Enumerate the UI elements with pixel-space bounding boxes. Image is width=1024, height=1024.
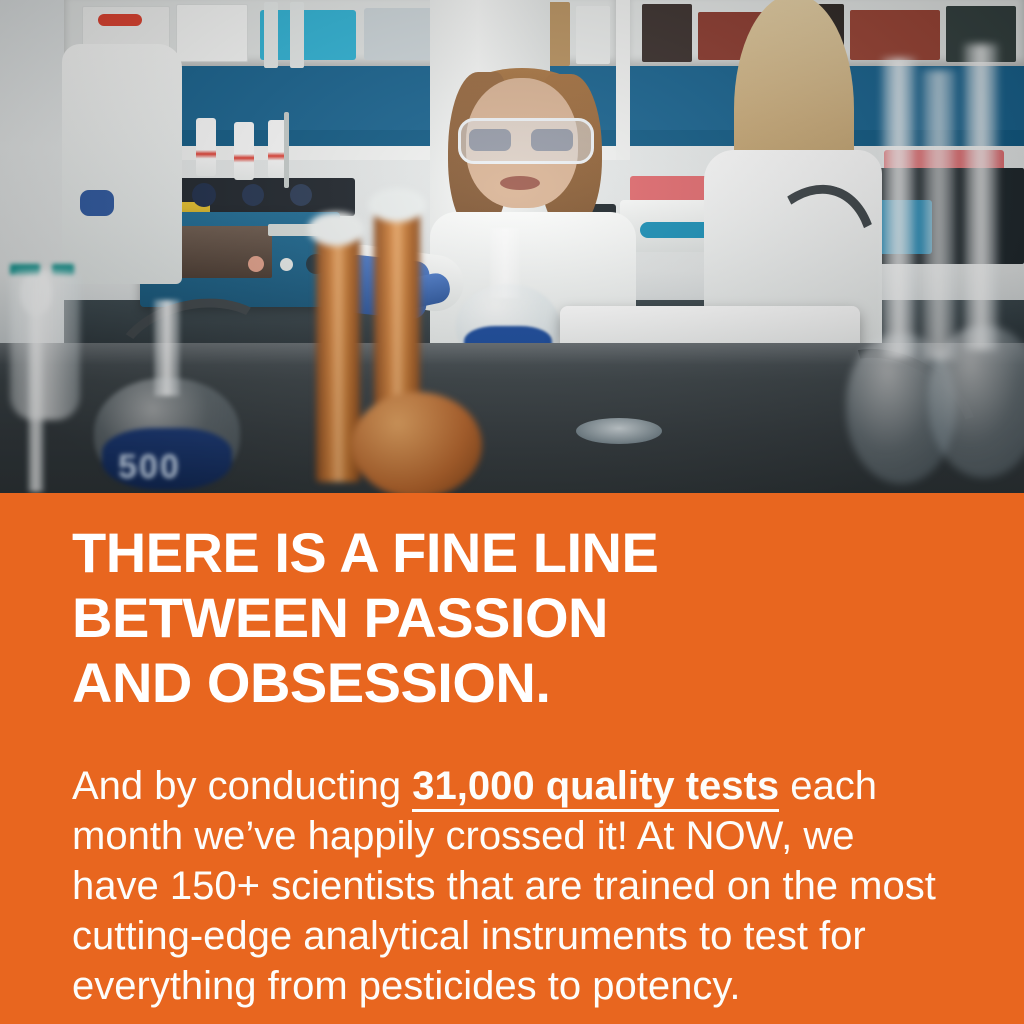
shelf-label-red xyxy=(98,14,142,26)
amber-round-flask xyxy=(352,392,482,493)
headline-line-2: BETWEEN PASSION xyxy=(72,585,972,650)
shelf-box-3 xyxy=(364,8,434,60)
amber-cap-right xyxy=(368,188,426,222)
page-title: THERE IS A FINE LINE BETWEEN PASSION AND… xyxy=(72,520,972,715)
shelf-box-4 xyxy=(576,6,610,64)
analyzer-knob-1 xyxy=(248,256,264,272)
headline-line-3: AND OBSESSION. xyxy=(72,650,972,715)
body-text-part-1: And by conducting xyxy=(72,764,412,808)
orange-text-panel: THERE IS A FINE LINE BETWEEN PASSION AND… xyxy=(0,493,1024,1024)
petri-dish xyxy=(576,418,662,444)
flask-500-volume-label: 500 xyxy=(118,448,181,487)
tall-flask-3-neck xyxy=(922,70,956,360)
amber-cap-left xyxy=(308,212,364,246)
body-emphasis-quality-tests: 31,000 quality tests xyxy=(412,764,779,812)
rack-vial-cap-4 xyxy=(290,184,312,206)
shelf-tube-1 xyxy=(264,2,278,68)
rack-stand-right xyxy=(284,112,289,188)
analyzer-knob-2 xyxy=(280,258,293,271)
safety-goggles-icon xyxy=(458,118,594,164)
laboratory-scientists-photo: 500 xyxy=(0,0,1024,493)
amber-glassware-group xyxy=(310,196,480,493)
left-foreground-flask xyxy=(0,230,96,430)
goggles-lens-right xyxy=(531,129,573,151)
volumetric-flask-500ml: 500 xyxy=(92,300,242,490)
body-paragraph: And by conducting 31,000 quality tests e… xyxy=(72,761,952,1011)
headline-line-1: THERE IS A FINE LINE xyxy=(72,520,972,585)
main-mouth xyxy=(500,176,540,190)
scientist-left-glove xyxy=(80,190,114,216)
sample-vial-3 xyxy=(234,122,254,180)
shelf-dark-1 xyxy=(642,4,692,62)
tall-flask-2-neck xyxy=(964,44,998,350)
promo-card: 500 xyxy=(0,0,1024,1024)
goggles-lens-left xyxy=(469,129,511,151)
rack-vial-cap-3 xyxy=(242,184,264,206)
left-flask-body xyxy=(10,270,80,420)
sample-vial-2 xyxy=(196,118,216,176)
rack-vial-cap-2 xyxy=(192,183,216,207)
shelf-box-2 xyxy=(176,4,248,62)
tall-volumetric-flask-3 xyxy=(906,70,966,490)
shelf-tube-2 xyxy=(290,2,304,68)
